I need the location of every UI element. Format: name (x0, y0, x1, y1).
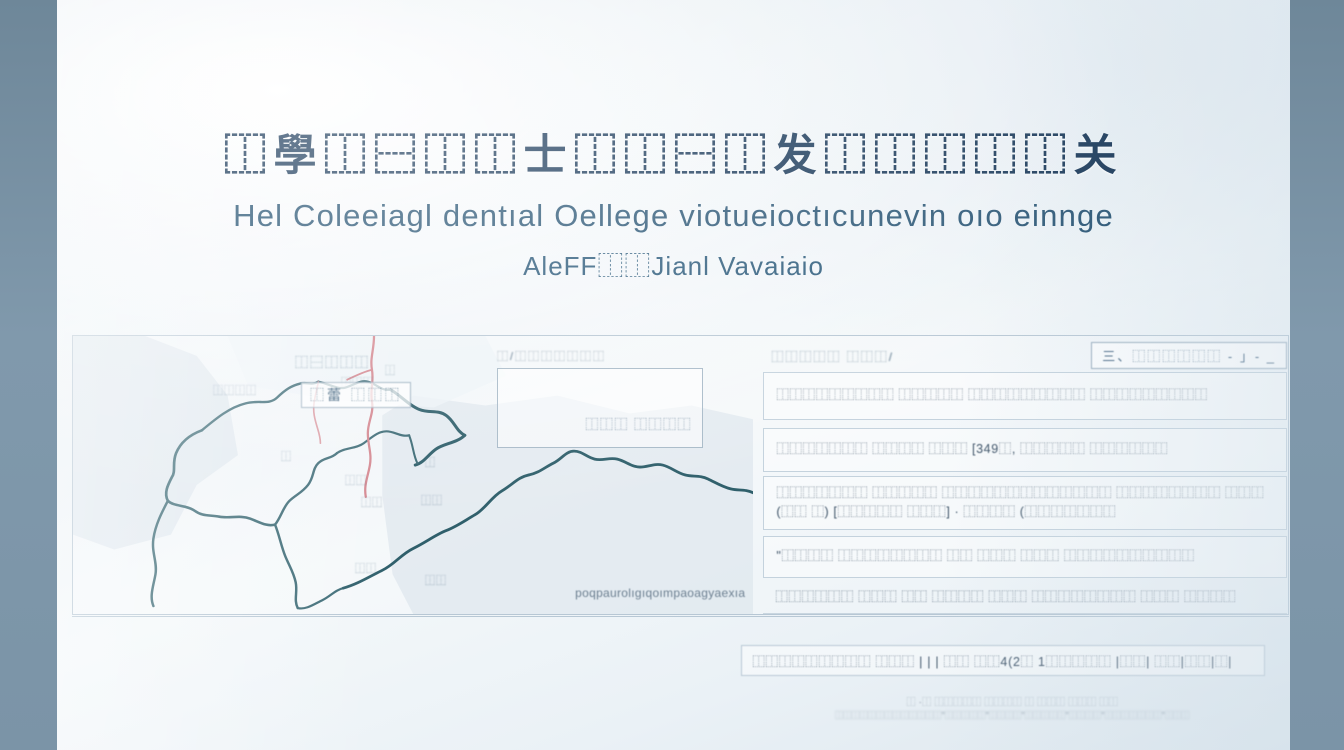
footer-note: ⿰ ·⿰ ⿰⿰⿰⿰⿰ ⿰⿰⿰⿰ ⿰ ⿰⿰⿰ ⿰⿰⿰ ⿰⿰ (766, 695, 1259, 708)
slide-page: ⿰學⿰⿱⿰⿰士⿰⿰⿱⿰发⿰⿰⿰⿰⿰关 Hel Coleeiagl dentıal… (57, 0, 1290, 750)
list-item-label: ⿰⿰⿰⿰⿰⿰⿰ ⿰⿰⿰⿰⿰ ⿰⿰⿰⿰⿰⿰⿰⿰⿰⿰⿰⿰⿰ ⿰⿰⿰⿰⿰⿰⿰⿰ ⿰⿰⿰… (776, 484, 1274, 523)
left-edge-strip (0, 0, 57, 750)
footer-frame: ⿰⿰⿰⿰⿰⿰⿰⿰⿰ ⿰⿰⿰ | | | ⿰⿰ ⿰⿰4(2⿰ 1⿰⿰⿰⿰⿰ |⿰⿰… (72, 616, 1289, 736)
map-label: ⿰⿰ (355, 560, 377, 575)
map-label: ⿰⿰ (425, 572, 447, 587)
list-item[interactable]: ⿰⿰⿰⿰⿰⿰⿰⿰⿰ ⿰⿰⿰⿰⿰ ⿰⿰⿰⿰⿰⿰⿰⿰⿰ ⿰⿰⿰⿰⿰⿰⿰⿰⿰ (763, 372, 1287, 420)
list-item[interactable]: ⿰⿰⿰⿰⿰⿰⿰ ⿰⿰⿰⿰ ⿰⿰⿰ [349⿰, ⿰⿰⿰⿰⿰ ⿰⿰⿰⿰⿰⿰ (763, 428, 1287, 472)
content-frame: ⿰⿰⿰⿰ ⿰⿰⿰ ⿰⿱⿰⿰⿰ ⿰ ⿰ ⿰⿰ ⿰⿰ ⿰ ⿰⿰ ⿰⿰ ⿰⿰ ⿰蕾 ⿰… (72, 335, 1289, 615)
status-badge[interactable]: 三、⿰⿰⿰⿰⿰⿰ - 」- _ (1091, 342, 1287, 369)
map-label: ⿰ (425, 454, 436, 469)
callout-title: ⿰/⿰⿰⿰⿰⿰⿰⿰ (497, 348, 703, 364)
callout-block: ⿰/⿰⿰⿰⿰⿰⿰⿰ ⿰⿰⿰ ⿰⿰⿰⿰ (497, 348, 703, 448)
rows-panel: ⿰⿰⿰⿰⿰ ⿰⿰⿰/ 三、⿰⿰⿰⿰⿰⿰ - 」- _ ⿰⿰⿰⿰⿰⿰⿰⿰⿰ ⿰⿰⿰… (753, 336, 1288, 614)
map-label-primary: ⿰⿱⿰⿰⿰ (295, 352, 370, 371)
list-item-label: ⿰⿰⿰⿰⿰⿰⿰ ⿰⿰⿰⿰ ⿰⿰⿰ [349⿰, ⿰⿰⿰⿰⿰ ⿰⿰⿰⿰⿰⿰ (776, 440, 1168, 459)
right-edge-strip (1290, 0, 1344, 750)
footer-note-secondary: ⿰⿰⿰⿰⿰⿰⿰⿰⿰⿰⿰⿰⿰"⿰⿰⿰⿰⿰"⿰⿰⿰⿰"⿰⿰⿰⿰⿰"⿰⿰⿰⿰"⿰⿰⿰⿰… (766, 710, 1259, 721)
list-item[interactable]: ⿰⿰⿰⿰⿰⿰⿰ ⿰⿰⿰⿰⿰ ⿰⿰⿰⿰⿰⿰⿰⿰⿰⿰⿰⿰⿰ ⿰⿰⿰⿰⿰⿰⿰⿰ ⿰⿰⿰… (763, 476, 1287, 530)
list-item-label: ⿰⿰⿰⿰⿰⿰ ⿰⿰⿰ ⿰⿰ ⿰⿰⿰⿰ ⿰⿰⿰ ⿰⿰⿰⿰⿰⿰⿰⿰ ⿰⿰⿰ ⿰⿰⿰⿰ (775, 588, 1236, 607)
callout-text: ⿰⿰⿰ ⿰⿰⿰⿰ (585, 414, 692, 433)
list-item[interactable]: ⿰⿰⿰⿰⿰⿰ ⿰⿰⿰ ⿰⿰ ⿰⿰⿰⿰ ⿰⿰⿰ ⿰⿰⿰⿰⿰⿰⿰⿰ ⿰⿰⿰ ⿰⿰⿰⿰ (763, 582, 1287, 614)
page-subtitle-secondary: AleFF⿰⿰Jianl Vavaiaio (57, 246, 1290, 283)
page-subtitle: Hel Coleeiagl dentıal Oellege viotueioct… (57, 197, 1290, 234)
map-label: ⿰⿰ (345, 472, 367, 487)
rows-heading: ⿰⿰⿰⿰⿰ ⿰⿰⿰/ (771, 348, 894, 365)
list-item-label: "⿰⿰⿰⿰ ⿰⿰⿰⿰⿰⿰⿰⿰ ⿰⿰ ⿰⿰⿰ ⿰⿰⿰ ⿰⿰⿰⿰⿰⿰⿰⿰⿰⿰ (776, 547, 1194, 566)
footer-highlight-box[interactable]: ⿰⿰⿰⿰⿰⿰⿰⿰⿰ ⿰⿰⿰ | | | ⿰⿰ ⿰⿰4(2⿰ 1⿰⿰⿰⿰⿰ |⿰⿰… (741, 645, 1265, 676)
map-caption: poqpaurolıgıqoımpaoagyaexıa (575, 586, 745, 600)
map-label: ⿰⿰⿰⿰ (213, 382, 257, 397)
slide-root: ⿰學⿰⿱⿰⿰士⿰⿰⿱⿰发⿰⿰⿰⿰⿰关 Hel Coleeiagl dentıal… (0, 0, 1344, 750)
map-label: ⿰⿰ (421, 492, 443, 507)
list-item[interactable]: "⿰⿰⿰⿰ ⿰⿰⿰⿰⿰⿰⿰⿰ ⿰⿰ ⿰⿰⿰ ⿰⿰⿰ ⿰⿰⿰⿰⿰⿰⿰⿰⿰⿰ (763, 536, 1287, 578)
list-item-label: ⿰⿰⿰⿰⿰⿰⿰⿰⿰ ⿰⿰⿰⿰⿰ ⿰⿰⿰⿰⿰⿰⿰⿰⿰ ⿰⿰⿰⿰⿰⿰⿰⿰⿰ (776, 386, 1207, 405)
map-label: ⿰⿰ (361, 494, 383, 509)
map-label: ⿰ (385, 362, 396, 377)
map-region-tag[interactable]: ⿰蕾 ⿰⿰⿰ (301, 382, 411, 408)
title-block: ⿰學⿰⿱⿰⿰士⿰⿰⿱⿰发⿰⿰⿰⿰⿰关 Hel Coleeiagl dentıal… (57, 132, 1290, 283)
callout-box[interactable]: ⿰⿰⿰ ⿰⿰⿰⿰ (497, 368, 703, 448)
page-title: ⿰學⿰⿱⿰⿰士⿰⿰⿱⿰发⿰⿰⿰⿰⿰关 (57, 132, 1290, 182)
map-label: ⿰ (281, 448, 292, 463)
